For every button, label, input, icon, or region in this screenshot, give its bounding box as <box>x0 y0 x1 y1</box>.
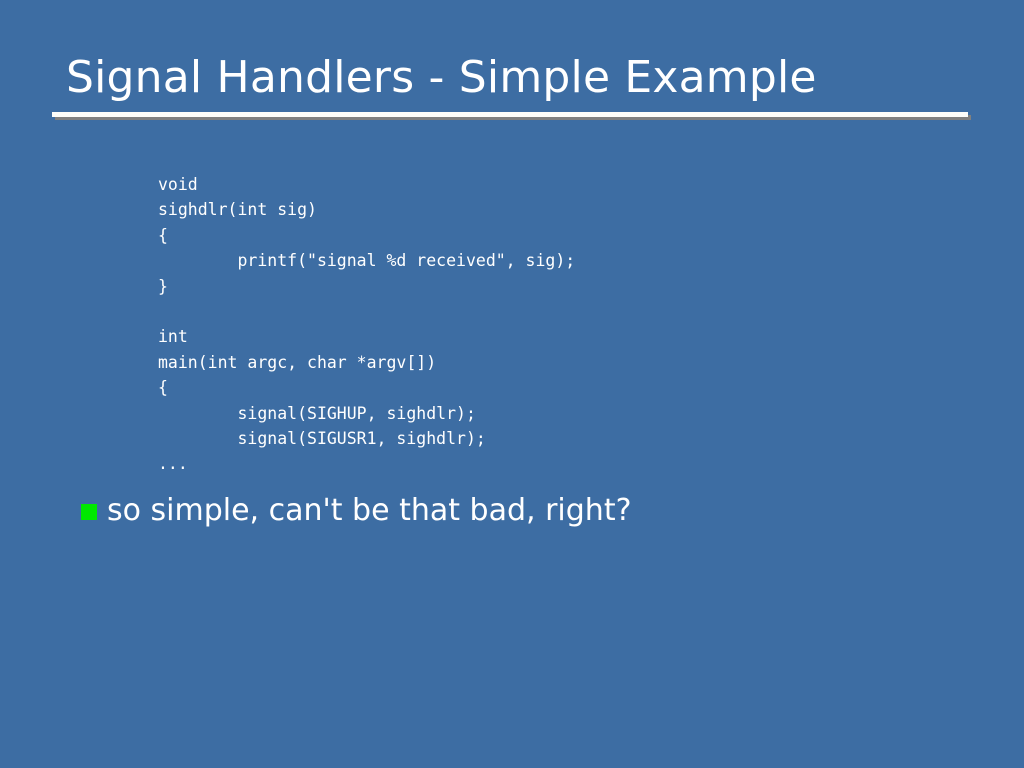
bullet-item-label: so simple, can't be that bad, right? <box>107 492 632 530</box>
presentation-slide: Signal Handlers - Simple Example void si… <box>0 0 1024 768</box>
list-item: so simple, can't be that bad, right? <box>81 492 632 530</box>
title-underline-rule <box>52 112 968 117</box>
green-square-bullet-icon <box>81 504 97 520</box>
slide-title-block: Signal Handlers - Simple Example <box>0 0 1024 130</box>
page-title: Signal Handlers - Simple Example <box>66 52 817 104</box>
code-listing: void sighdlr(int sig) { printf("signal %… <box>158 172 575 477</box>
bullet-list: so simple, can't be that bad, right? <box>81 492 632 530</box>
